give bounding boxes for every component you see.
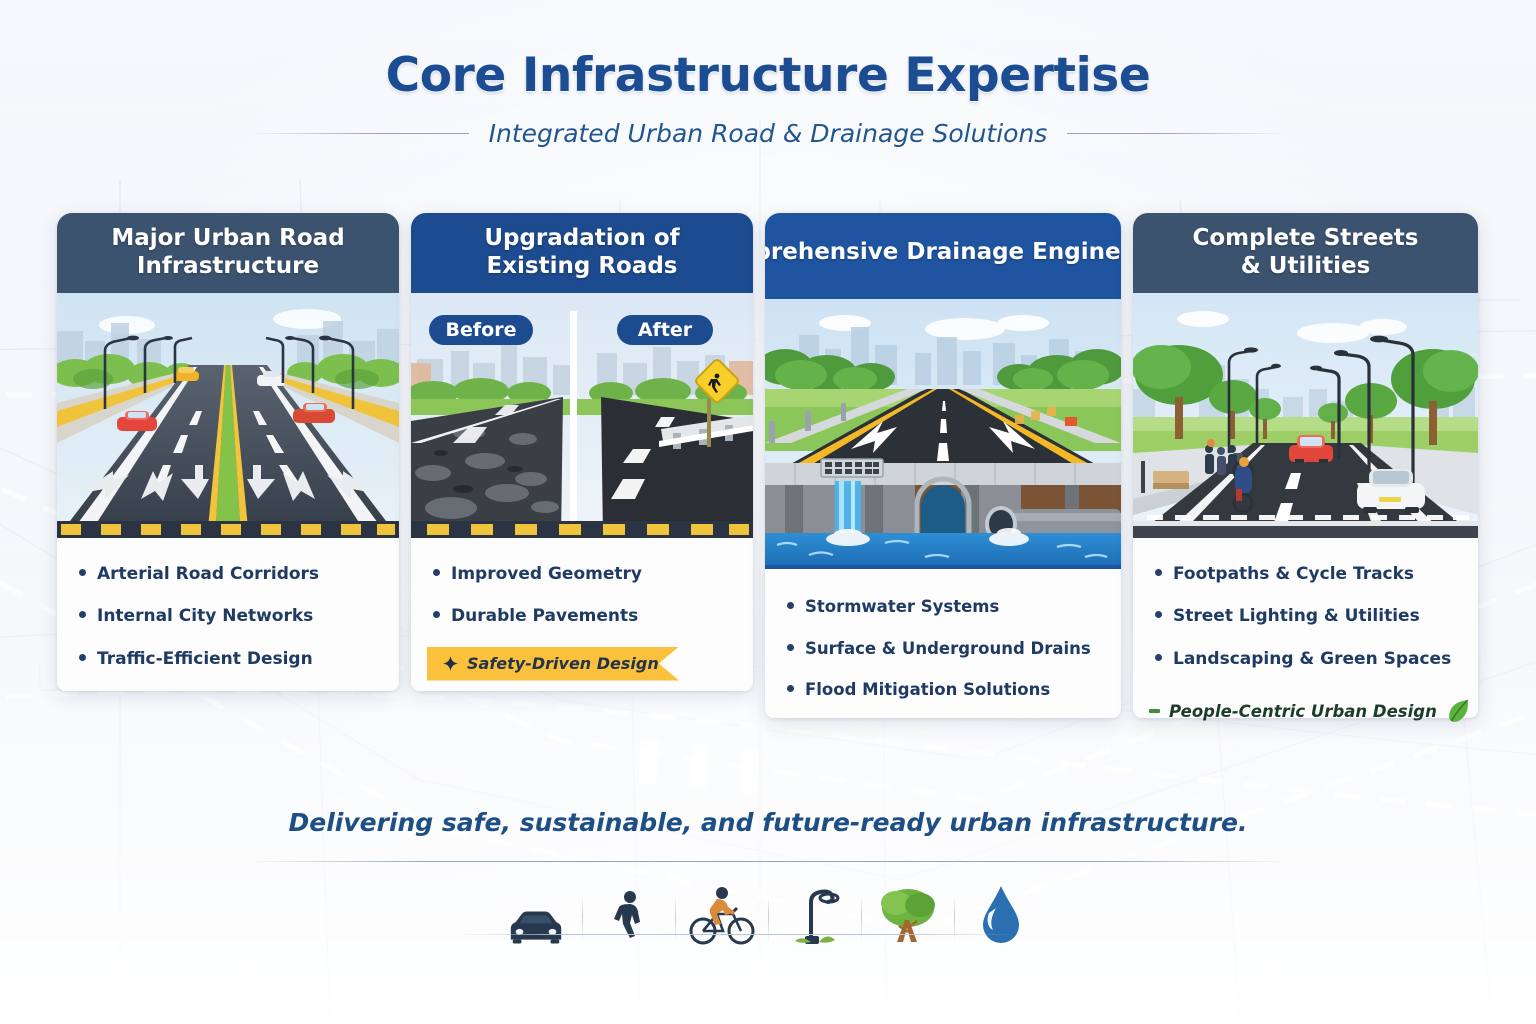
bullet-dot-icon [787,602,794,609]
icon-cell-tree [862,874,954,946]
bullet-list-1: Arterial Road Corridors Internal City Ne… [79,564,379,670]
list-item: Traffic-Efficient Design [79,649,379,670]
bullet-dot-icon [1155,654,1162,661]
bullet-dot-icon [787,685,794,692]
bullet-list-4: Footpaths & Cycle Tracks Street Lighting… [1155,564,1458,670]
bullet-list-3: Stormwater Systems Surface & Underground… [787,597,1101,701]
list-item: Arterial Road Corridors [79,564,379,585]
card-header-2: Upgradation of Existing Roads [411,213,753,293]
list-item: Stormwater Systems [787,597,1101,618]
footer-divider [246,861,1290,862]
icon-cell-street-lamp [769,874,861,946]
bullet-text: Arterial Road Corridors [97,564,319,585]
list-item: Durable Pavements [433,606,733,627]
bullet-text: Landscaping & Green Spaces [1173,649,1451,670]
card-body-1: Arterial Road Corridors Internal City Ne… [57,538,399,670]
subtitle-row: Integrated Urban Road & Drainage Solutio… [0,119,1536,148]
pedestrian-icon [612,890,646,946]
tree-icon [878,884,938,946]
card-title-1: Major Urban Road Infrastructure [111,225,344,280]
card-body-4: Footpaths & Cycle Tracks Street Lighting… [1133,538,1478,670]
bullet-dot-icon [79,654,86,661]
card-image-1 [57,293,399,538]
card-complete-streets-and-utilities[interactable]: Complete Streets & Utilities [1133,213,1478,718]
car-icon [505,906,567,946]
icon-cell-cyclist [676,874,768,946]
card-image-2: Before After [411,293,753,538]
bullet-text: Internal City Networks [97,606,313,627]
bullet-text: Durable Pavements [451,606,638,627]
icon-cell-water-droplet [955,874,1047,946]
card-title-3: Comprehensive Drainage Engineering [765,239,1121,267]
cyclist-icon [689,886,755,946]
water-droplet-icon [979,884,1023,946]
card-header-4: Complete Streets & Utilities [1133,213,1478,293]
bullet-text: Stormwater Systems [805,597,999,618]
bullet-dot-icon [433,569,440,576]
card-upgradation-of-existing-roads[interactable]: Upgradation of Existing Roads [411,213,753,691]
safety-driven-design-ribbon: Safety-Driven Design [427,647,679,681]
people-centric-note: People-Centric Urban Design [1149,698,1472,724]
card-title-2: Upgradation of Existing Roads [484,225,679,280]
bullet-text: Surface & Underground Drains [805,639,1091,660]
svg-text:After: After [638,319,693,341]
bullet-dot-icon [79,569,86,576]
bullet-text: Improved Geometry [451,564,642,585]
green-note-label: People-Centric Urban Design [1169,702,1437,721]
bullet-text: Flood Mitigation Solutions [805,680,1050,701]
bullet-text: Street Lighting & Utilities [1173,606,1420,627]
icon-cell-car [490,874,582,946]
bullet-dot-icon [79,611,86,618]
icon-strip-baseline [455,934,1015,935]
ribbon-label: Safety-Driven Design [467,654,659,673]
page-title: Core Infrastructure Expertise [0,48,1536,103]
leaf-icon [1446,698,1472,724]
bullet-dot-icon [433,611,440,618]
card-header-3: Comprehensive Drainage Engineering [765,213,1121,293]
card-header-1: Major Urban Road Infrastructure [57,213,399,293]
list-item: Landscaping & Green Spaces [1155,649,1458,670]
bullet-list-2: Improved Geometry Durable Pavements [433,564,733,628]
list-item: Street Lighting & Utilities [1155,606,1458,627]
list-item: Improved Geometry [433,564,733,585]
card-title-4: Complete Streets & Utilities [1193,225,1419,280]
bullet-dot-icon [1155,569,1162,576]
footer-tagline: Delivering safe, sustainable, and future… [0,808,1536,837]
bullet-text: Footpaths & Cycle Tracks [1173,564,1414,585]
list-item: Footpaths & Cycle Tracks [1155,564,1458,585]
svg-text:Before: Before [446,319,517,341]
subtitle-rule-right [1067,133,1287,134]
card-grid: Major Urban Road Infrastructure [57,213,1482,718]
bullet-text: Traffic-Efficient Design [97,649,313,670]
icon-cell-pedestrian [583,874,675,946]
card-body-2: Improved Geometry Durable Pavements Safe… [411,538,753,681]
infographic-stage: Core Infrastructure Expertise Integrated… [0,0,1536,1024]
card-major-urban-road-infrastructure[interactable]: Major Urban Road Infrastructure [57,213,399,691]
sparkle-icon [443,656,458,671]
bullet-dot-icon [1155,611,1162,618]
list-item: Flood Mitigation Solutions [787,680,1101,701]
card-image-3 [765,293,1121,569]
card-body-3: Stormwater Systems Surface & Underground… [765,569,1121,701]
bullet-dot-icon [787,644,794,651]
list-item: Surface & Underground Drains [787,639,1101,660]
green-dash-icon [1149,709,1160,713]
subtitle-rule-left [249,133,469,134]
card-image-4 [1133,293,1478,538]
street-lamp-icon [787,886,843,946]
page-header: Core Infrastructure Expertise Integrated… [0,48,1536,148]
list-item: Internal City Networks [79,606,379,627]
page-subtitle: Integrated Urban Road & Drainage Solutio… [489,119,1048,148]
card-comprehensive-drainage-engineering[interactable]: Comprehensive Drainage Engineering [765,213,1121,718]
